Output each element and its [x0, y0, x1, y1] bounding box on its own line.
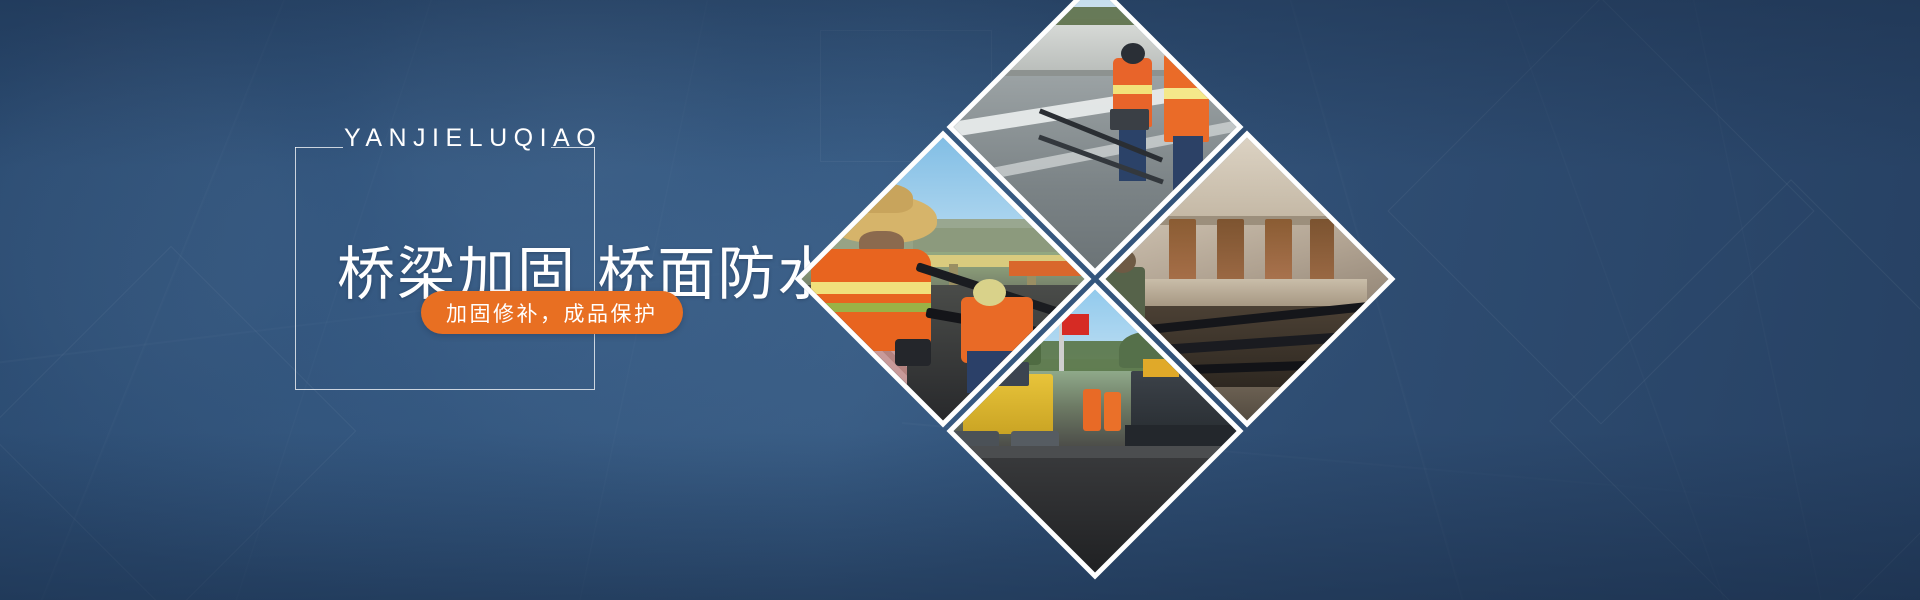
- decorative-frame-top-left: [295, 147, 343, 148]
- tagline-badge: 加固修补，成品保护: [421, 291, 683, 334]
- promo-banner: YANJIELUQIAO 桥梁加固 桥面防水 加固修补，成品保护: [0, 0, 1920, 600]
- headline-block: YANJIELUQIAO 桥梁加固 桥面防水 加固修补，成品保护: [0, 0, 820, 600]
- eyebrow-text: YANJIELUQIAO: [344, 124, 602, 153]
- photo-collage: [760, 0, 1320, 600]
